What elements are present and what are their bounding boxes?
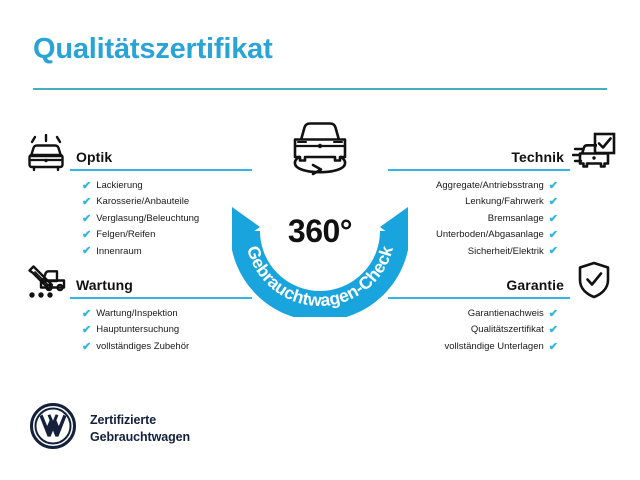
check-label: Hauptuntersuchung [96,322,179,338]
list-item: ✔Hauptuntersuchung [22,322,252,338]
check-label: Karosserie/Anbauteile [96,194,189,210]
list-item: ✔Unterboden/Abgasanlage [388,227,618,243]
check-label: Qualitätszertifikat [471,322,544,338]
list-item: ✔vollständige Unterlagen [388,339,618,355]
check-icon: ✔ [549,325,558,336]
list-item: ✔Lenkung/Fahrwerk [388,194,618,210]
section-divider-optik [70,169,252,171]
check-icon: ✔ [549,342,558,353]
check-icon: ✔ [82,230,91,241]
list-item: ✔Verglasung/Beleuchtung [22,211,252,227]
list-item: ✔Wartung/Inspektion [22,306,252,322]
check-label: Aggregate/Antriebsstrang [436,178,544,194]
check-label: vollständige Unterlagen [444,339,543,355]
page-title: Qualitätszertifikat [33,33,273,66]
check-icon: ✔ [549,214,558,225]
check-icon: ✔ [549,246,558,257]
section-title-technik: Technik [388,149,570,169]
section-garantie: Garantie ✔Garantienachweis ✔Qualitätszer… [388,258,618,355]
section-divider-garantie [388,297,570,299]
check-icon: ✔ [82,342,91,353]
check-list-technik: ✔Aggregate/Antriebsstrang ✔Lenkung/Fahrw… [388,178,618,260]
section-wartung: Wartung ✔Wartung/Inspektion ✔Hauptunters… [22,258,252,355]
badge-degree-label: 360° [232,213,408,250]
check-list-garantie: ✔Garantienachweis ✔Qualitätszertifikat ✔… [388,306,618,355]
section-title-garantie: Garantie [388,277,570,297]
check-label: Wartung/Inspektion [96,306,178,322]
car-shine-icon [22,130,70,172]
footer-text: Zertifizierte Gebrauchtwagen [90,412,190,446]
section-divider-wartung [70,297,252,299]
list-item: ✔Garantienachweis [388,306,618,322]
check-label: Bremsanlage [488,211,544,227]
section-title-optik: Optik [70,149,252,169]
check-label: Verglasung/Beleuchtung [96,211,199,227]
check-icon: ✔ [82,309,91,320]
footer-line-2: Gebrauchtwagen [90,429,190,446]
wrench-car-icon [22,258,70,300]
footer-line-1: Zertifizierte [90,412,190,429]
title-divider [33,88,607,90]
section-technik: Technik ✔Aggregate/Antriebsstrang ✔Lenku… [388,130,618,260]
check-icon: ✔ [82,214,91,225]
badge-360-gebrauchtwagen-check: Gebrauchtwagen-Check 360° [232,117,408,317]
check-icon: ✔ [82,246,91,257]
section-title-wartung: Wartung [70,277,252,297]
list-item: ✔Felgen/Reifen [22,227,252,243]
check-icon: ✔ [549,230,558,241]
car-rotate-icon [283,117,357,179]
check-icon: ✔ [549,309,558,320]
car-checkbox-icon [570,130,618,172]
check-label: vollständiges Zubehör [96,339,189,355]
section-optik: Optik ✔Lackierung ✔Karosserie/Anbauteile… [22,130,252,260]
check-list-optik: ✔Lackierung ✔Karosserie/Anbauteile ✔Verg… [22,178,252,260]
footer-brand: Zertifizierte Gebrauchtwagen [30,403,190,454]
list-item: ✔Aggregate/Antriebsstrang [388,178,618,194]
check-label: Felgen/Reifen [96,227,155,243]
check-list-wartung: ✔Wartung/Inspektion ✔Hauptuntersuchung ✔… [22,306,252,355]
check-icon: ✔ [82,181,91,192]
list-item: ✔Karosserie/Anbauteile [22,194,252,210]
check-icon: ✔ [82,325,91,336]
check-label: Lackierung [96,178,142,194]
check-label: Unterboden/Abgasanlage [436,227,544,243]
check-icon: ✔ [549,181,558,192]
check-label: Lenkung/Fahrwerk [465,194,544,210]
list-item: ✔Qualitätszertifikat [388,322,618,338]
list-item: ✔Lackierung [22,178,252,194]
shield-check-icon [570,258,618,300]
section-divider-technik [388,169,570,171]
check-icon: ✔ [82,197,91,208]
check-icon: ✔ [549,197,558,208]
volkswagen-logo [30,403,76,454]
check-label: Garantienachweis [468,306,544,322]
list-item: ✔Bremsanlage [388,211,618,227]
list-item: ✔vollständiges Zubehör [22,339,252,355]
